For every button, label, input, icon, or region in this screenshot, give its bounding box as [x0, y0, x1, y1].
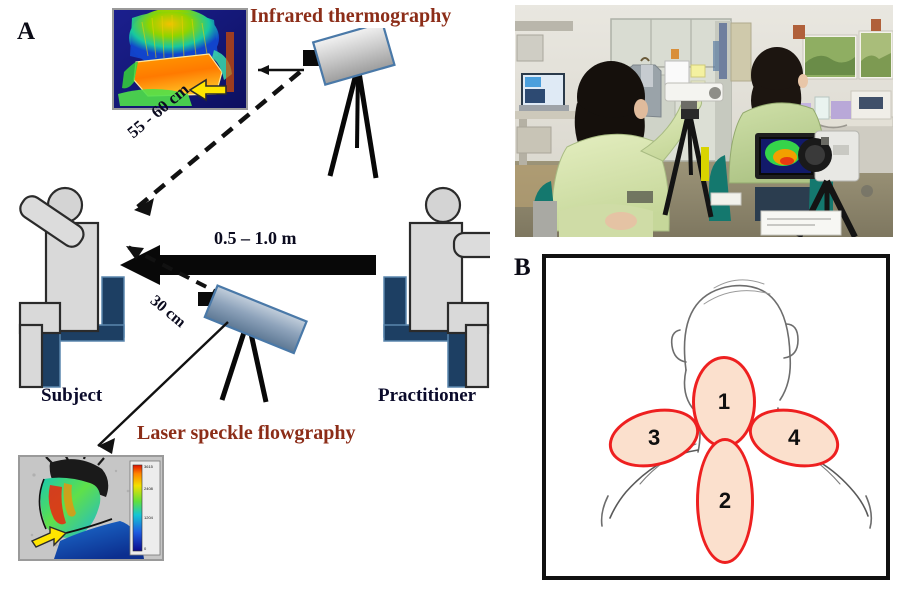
laboratory-photograph [515, 5, 893, 237]
svg-text:3615: 3615 [144, 464, 154, 469]
laser-speckle-flowgram-inset: 3615 2408 1204 0 [18, 455, 164, 561]
panel-b: B [512, 250, 900, 590]
figure-root: A Infrared thermography [0, 0, 900, 593]
region-label-1: 1 [718, 389, 730, 415]
panel-a-letter: A [17, 18, 35, 46]
panel-a: A Infrared thermography [0, 0, 505, 593]
region-oval-2[interactable]: 2 [696, 438, 754, 564]
practitioner-label: Practitioner [378, 385, 476, 407]
infrared-thermography-label: Infrared thermography [250, 5, 451, 28]
infrared-camera-tripod [300, 28, 410, 198]
region-label-4: 4 [788, 425, 800, 451]
panel-b-frame: 1 2 3 4 [542, 254, 890, 580]
flowgram-link-arrow [68, 318, 238, 460]
panel-b-letter: B [514, 254, 531, 282]
region-label-2: 2 [719, 488, 731, 514]
svg-text:2408: 2408 [144, 486, 154, 491]
svg-text:1204: 1204 [144, 515, 154, 520]
region-oval-1[interactable]: 1 [692, 356, 756, 448]
region-label-3: 3 [648, 425, 660, 451]
